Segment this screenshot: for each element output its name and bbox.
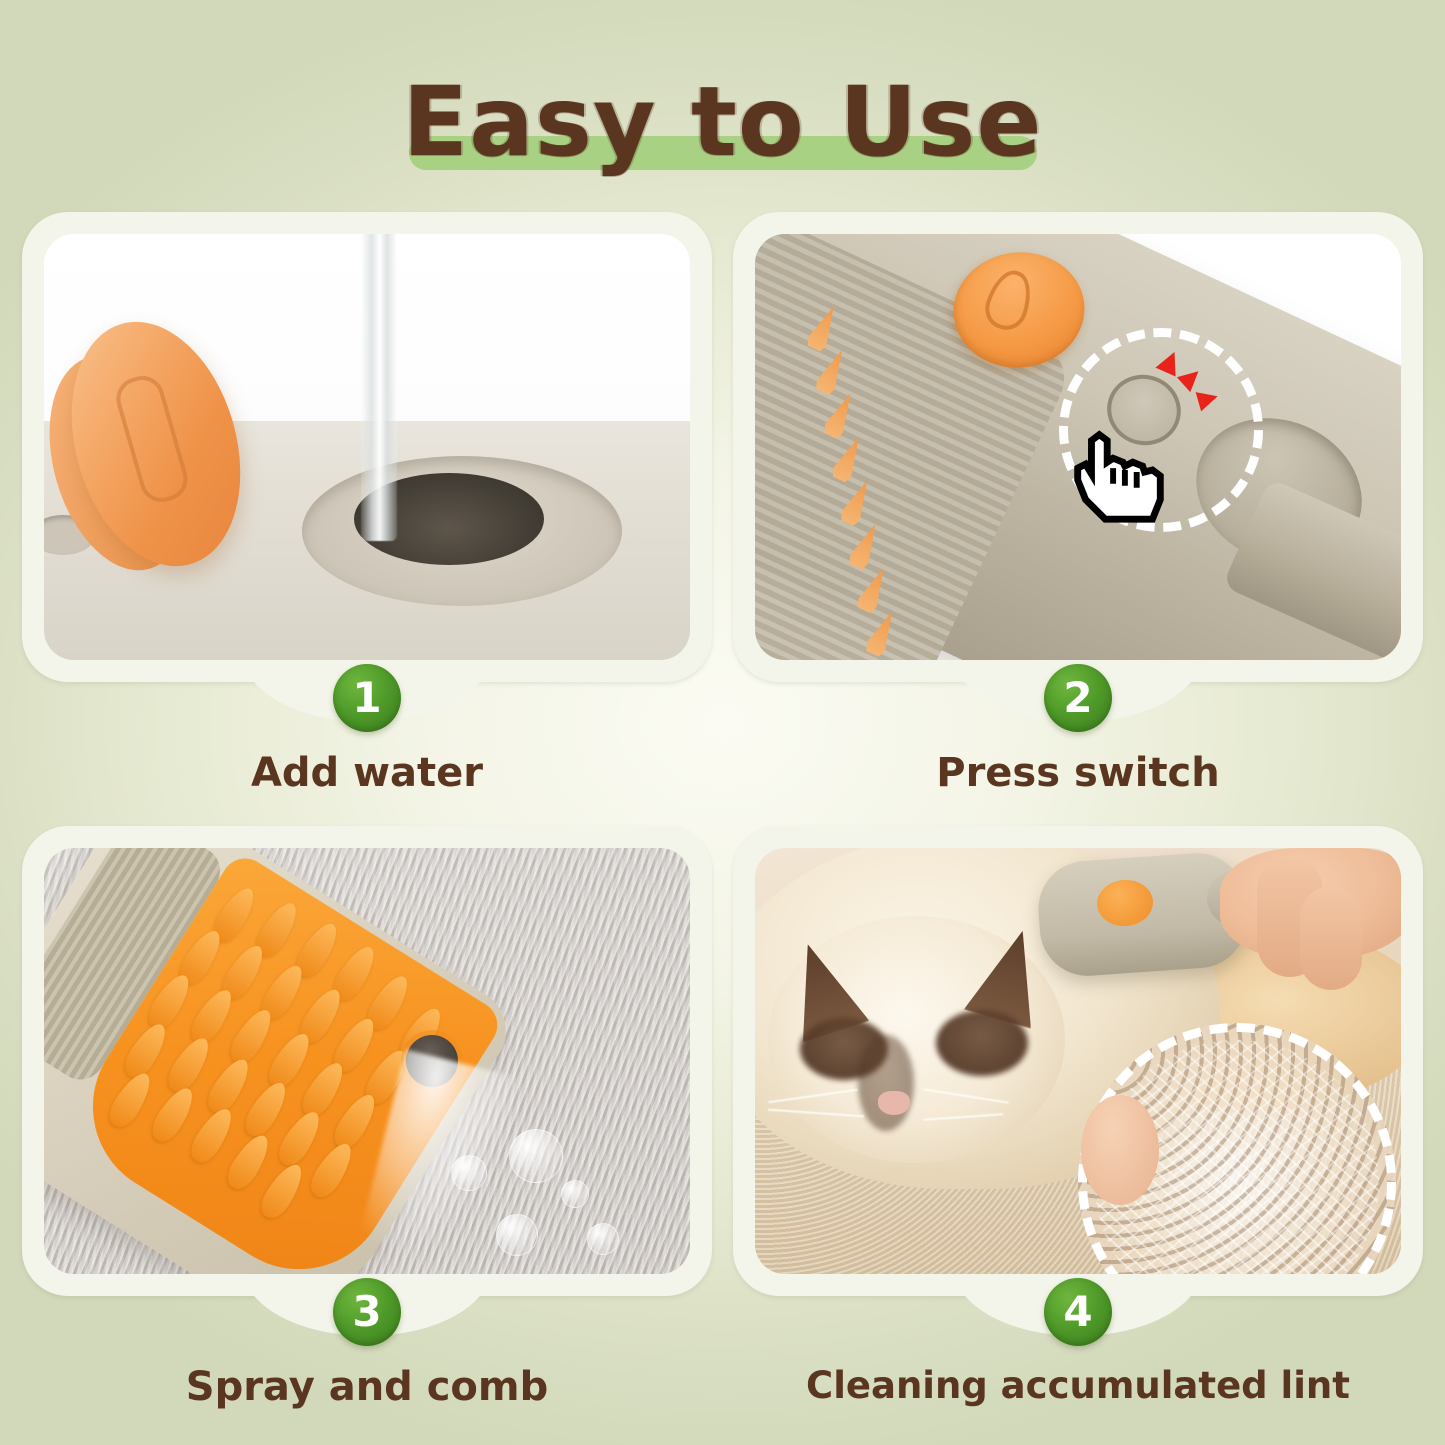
- step-card-4[interactable]: 4 Cleaning accumulated lint: [733, 826, 1423, 1426]
- step-badge-4: 4: [1044, 1278, 1112, 1346]
- bubble-icon: [587, 1223, 619, 1255]
- step-badge-1: 1: [333, 664, 401, 732]
- thumb-icon: [1081, 1095, 1159, 1205]
- comb-tooth-icon: [859, 606, 903, 660]
- step-photo-3: [44, 848, 690, 1274]
- cat-eye-patch: [936, 1010, 1028, 1076]
- card-frame-3: [22, 826, 712, 1296]
- step-badge-3: 3: [333, 1278, 401, 1346]
- scene-press-switch: [755, 234, 1401, 660]
- bubble-icon: [451, 1155, 487, 1191]
- comb-tooth-icon: [851, 562, 895, 619]
- step-caption-1: Add water: [22, 750, 712, 796]
- card-frame-2: [733, 212, 1423, 682]
- step-caption-2: Press switch: [733, 750, 1423, 796]
- scene-cleaning-lint: [755, 848, 1401, 1274]
- step-photo-2: [755, 234, 1401, 660]
- step-photo-4: [755, 848, 1401, 1274]
- step-caption-4: Cleaning accumulated lint: [733, 1364, 1423, 1407]
- step-card-1[interactable]: 1 Add water: [22, 212, 712, 812]
- card-frame-1: [22, 212, 712, 682]
- hand-cursor-icon: [1065, 413, 1173, 531]
- scene-add-water: [44, 234, 690, 660]
- page-title: Easy to Use: [0, 52, 1445, 192]
- card-frame-4: [733, 826, 1423, 1296]
- step-card-2[interactable]: 2 Press switch: [733, 212, 1423, 812]
- bubble-icon: [561, 1180, 589, 1208]
- step-badge-2: 2: [1044, 664, 1112, 732]
- comb-tooth-icon: [809, 344, 853, 401]
- water-stream-icon: [361, 234, 397, 541]
- title-text: Easy to Use: [403, 74, 1043, 170]
- infographic-page: Easy to Use: [0, 0, 1445, 1445]
- bubble-icon: [509, 1129, 563, 1183]
- steps-grid: 1 Add water: [0, 196, 1445, 1445]
- comb-tooth-icon: [826, 432, 870, 489]
- step-photo-1: [44, 234, 690, 660]
- step-card-3[interactable]: 3 Spray and comb: [22, 826, 712, 1426]
- comb-tooth-icon: [834, 475, 878, 532]
- cat-nose-icon: [878, 1091, 910, 1115]
- step-caption-3: Spray and comb: [22, 1364, 712, 1410]
- comb-tooth-icon: [818, 388, 862, 445]
- scene-spray-and-comb: [44, 848, 690, 1274]
- comb-tooth-icon: [843, 519, 887, 576]
